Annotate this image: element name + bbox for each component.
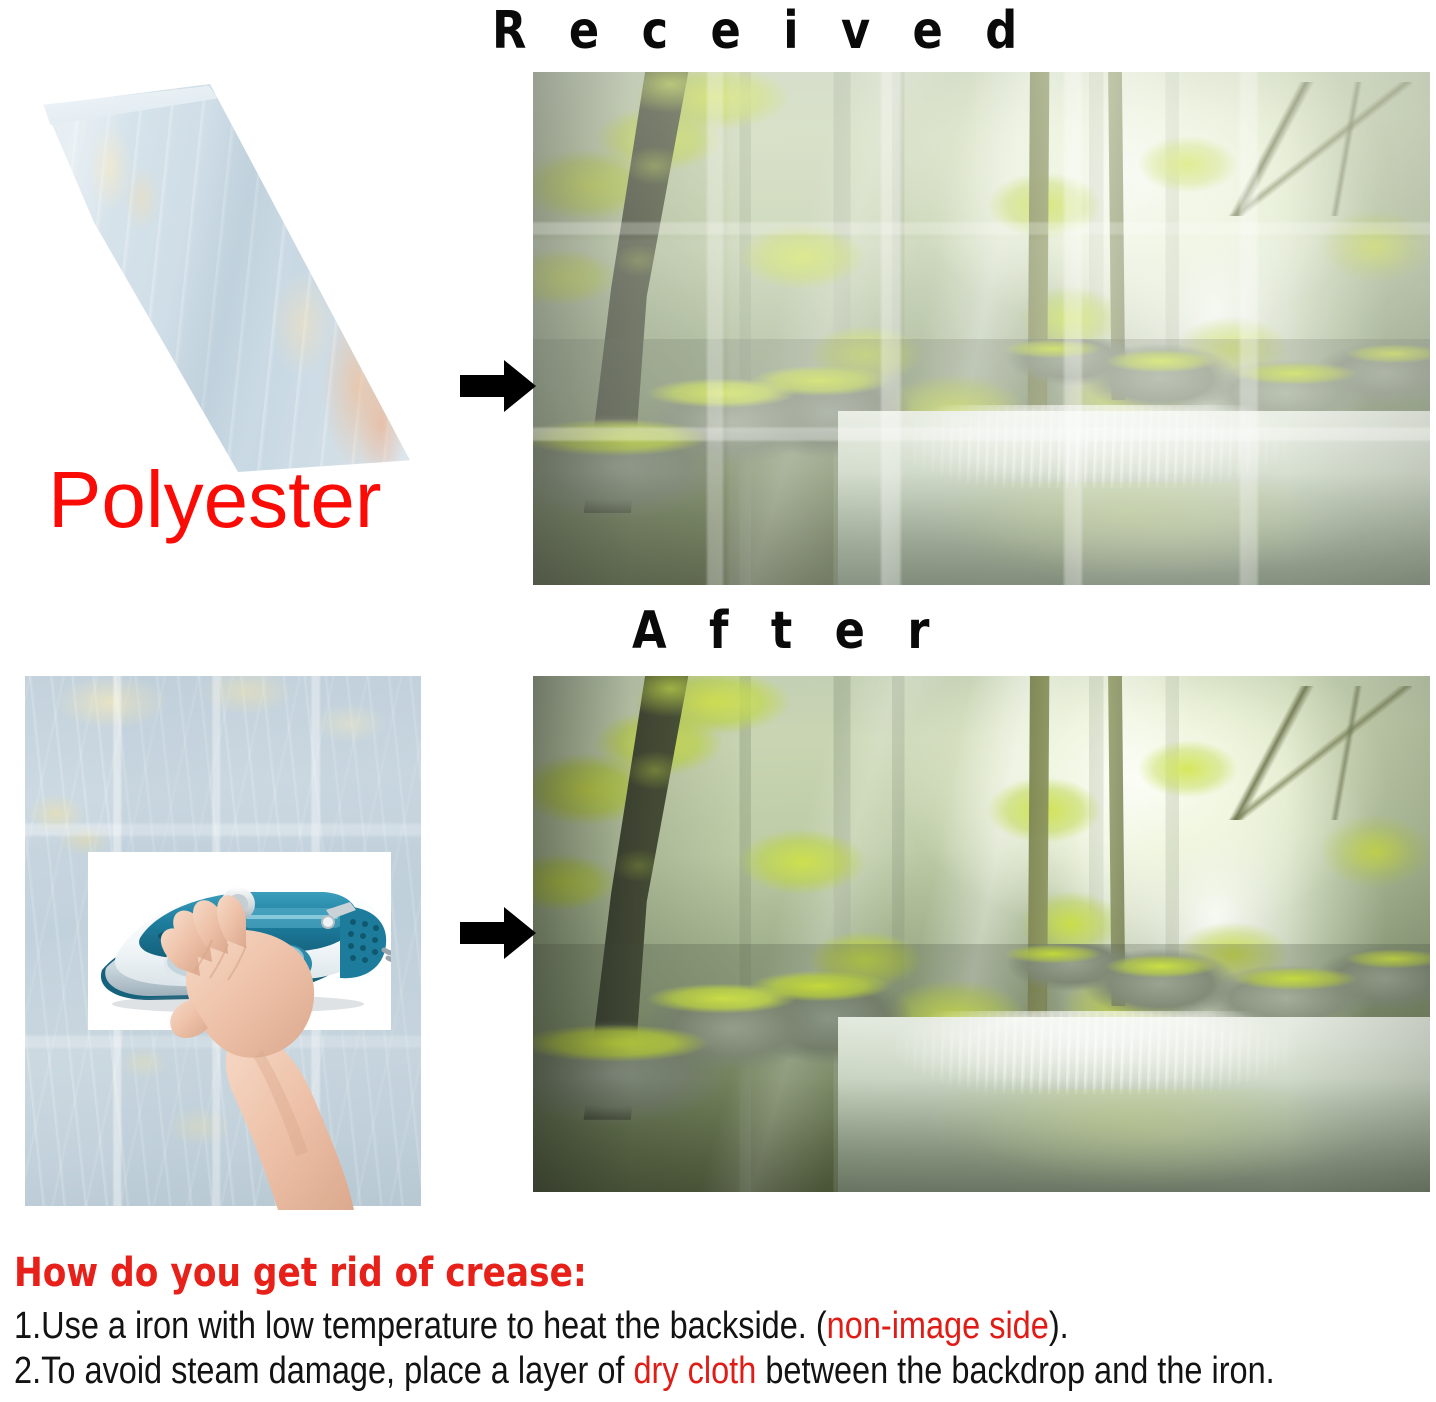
steam-iron-icon bbox=[88, 852, 391, 1030]
after-backdrop-photo bbox=[533, 676, 1430, 1192]
polyester-label: Polyester bbox=[48, 457, 381, 543]
instruction-1-after: ). bbox=[1049, 1305, 1069, 1347]
instruction-2-highlight: dry cloth bbox=[633, 1350, 756, 1392]
instruction-1-highlight: non-image side bbox=[827, 1305, 1049, 1347]
arrow-right-icon bbox=[460, 905, 536, 966]
arrow-right-icon bbox=[460, 358, 536, 419]
instruction-1-before: Use a iron with low temperature to heat … bbox=[41, 1305, 827, 1347]
instruction-line-1: 1.Use a iron with low temperature to hea… bbox=[14, 1304, 1220, 1349]
received-backdrop-photo bbox=[533, 72, 1430, 585]
instruction-2-before: To avoid steam damage, place a layer of bbox=[41, 1350, 633, 1392]
scene-haze-washout bbox=[533, 72, 1430, 585]
after-heading: A f t e r bbox=[632, 600, 943, 662]
care-instructions: How do you get rid of crease: 1.Use a ir… bbox=[14, 1248, 1424, 1394]
instruction-1-number: 1. bbox=[14, 1305, 41, 1347]
instruction-2-number: 2. bbox=[14, 1350, 41, 1392]
scene-vignette bbox=[533, 676, 1430, 1192]
iron-photo-card bbox=[88, 852, 391, 1030]
folded-fabric-image bbox=[22, 82, 422, 472]
instruction-line-2: 2.To avoid steam damage, place a layer o… bbox=[14, 1349, 1220, 1394]
received-heading: R e c e i v e d bbox=[492, 0, 1031, 62]
instructions-heading: How do you get rid of crease: bbox=[14, 1248, 1227, 1298]
instruction-2-after: between the backdrop and the iron. bbox=[756, 1350, 1274, 1392]
fabric-fold-shading bbox=[22, 82, 422, 472]
